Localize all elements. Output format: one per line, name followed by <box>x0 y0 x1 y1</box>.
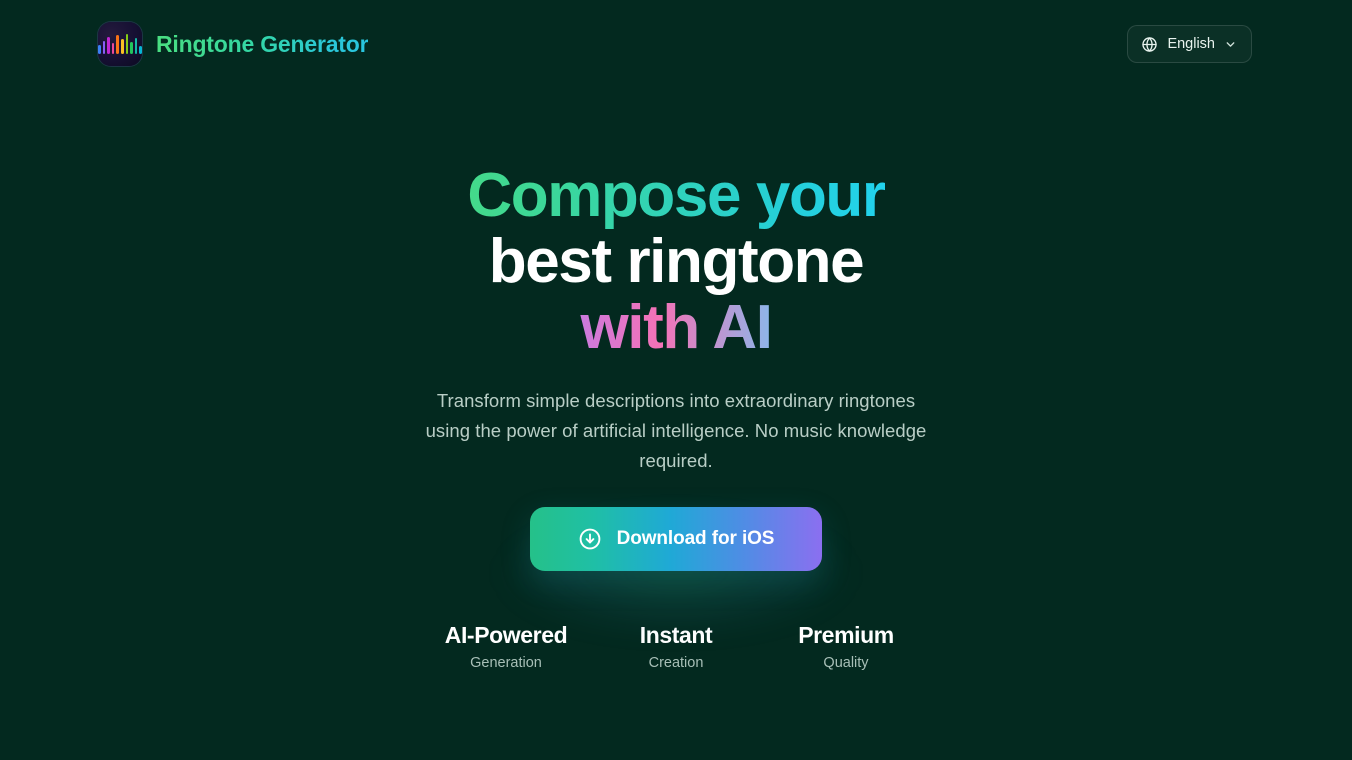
language-switcher[interactable]: English <box>1127 25 1252 63</box>
headline-line-3: with AI <box>467 295 884 361</box>
download-circle-icon <box>578 527 602 551</box>
stat-item: Premium Quality <box>761 621 931 673</box>
waveform-bar <box>103 41 106 54</box>
waveform-bar <box>135 38 138 54</box>
waveform-bar <box>121 39 124 54</box>
stat-subtitle: Quality <box>761 654 931 673</box>
site-header: Ringtone Generator English <box>0 0 1352 88</box>
waveform-bar <box>107 37 110 54</box>
chevron-down-icon <box>1224 38 1237 51</box>
stat-subtitle: Creation <box>591 654 761 673</box>
stats-row: AI-Powered Generation Instant Creation P… <box>421 621 931 673</box>
download-for-ios-button[interactable]: Download for iOS <box>530 507 822 571</box>
page-title: Compose your best ringtone with AI <box>467 163 884 361</box>
waveform-bar <box>139 46 142 54</box>
stat-title: Premium <box>761 621 931 649</box>
stat-subtitle: Generation <box>421 654 591 673</box>
globe-icon <box>1141 36 1158 53</box>
language-label: English <box>1167 37 1215 52</box>
stat-item: Instant Creation <box>591 621 761 673</box>
headline-line-2: best ringtone <box>467 229 884 295</box>
hero-section: Compose your best ringtone with AI Trans… <box>0 0 1352 760</box>
hero-subtitle: Transform simple descriptions into extra… <box>416 386 936 476</box>
waveform-bar <box>112 43 115 54</box>
brand[interactable]: Ringtone Generator <box>98 22 368 66</box>
stat-title: Instant <box>591 621 761 649</box>
headline-line-1: Compose your <box>467 163 884 229</box>
audio-waveform-icon <box>98 22 142 66</box>
stat-item: AI-Powered Generation <box>421 621 591 673</box>
stat-title: AI-Powered <box>421 621 591 649</box>
waveform-bar <box>98 45 101 54</box>
waveform-bar <box>126 34 129 54</box>
brand-name: Ringtone Generator <box>156 31 368 58</box>
download-button-label: Download for iOS <box>617 528 775 550</box>
waveform-bar <box>116 35 119 54</box>
cta-container: Download for iOS <box>530 507 822 571</box>
waveform-bar <box>130 42 133 54</box>
